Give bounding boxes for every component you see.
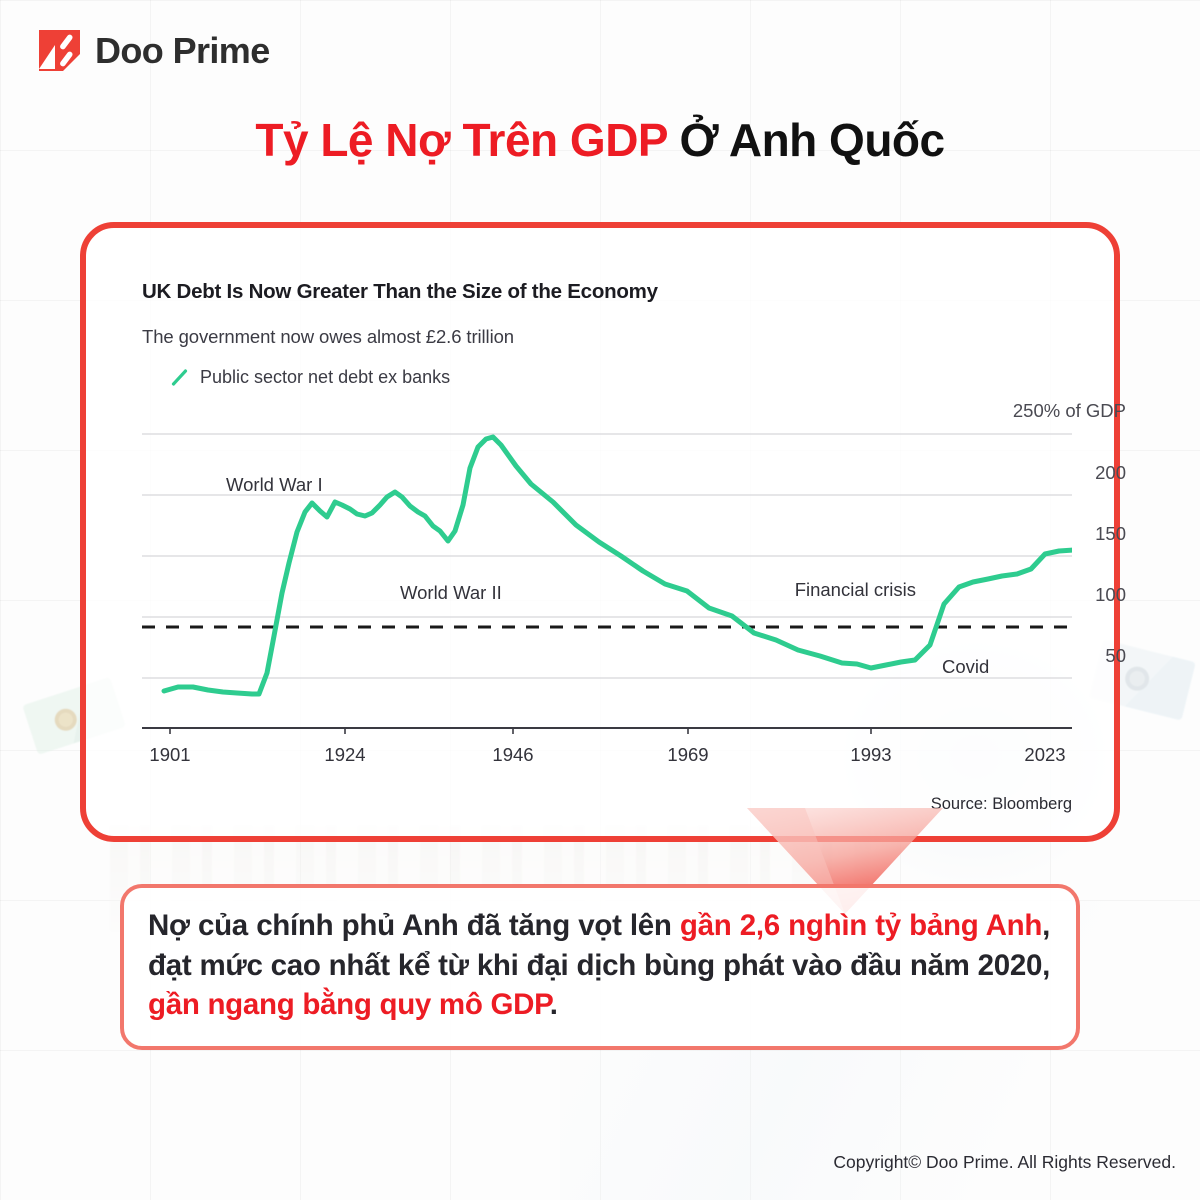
y-tick-label-150: 150 bbox=[946, 523, 1126, 545]
chart-card: UK Debt Is Now Greater Than the Size of … bbox=[80, 222, 1120, 842]
brand-name: Doo Prime bbox=[95, 30, 270, 72]
copyright-footer: Copyright© Doo Prime. All Rights Reserve… bbox=[833, 1152, 1176, 1173]
legend-label: Public sector net debt ex banks bbox=[200, 367, 450, 388]
caption-box: Nợ của chính phủ Anh đã tăng vọt lên gần… bbox=[120, 884, 1080, 1050]
annotation-covid: Covid bbox=[942, 656, 989, 678]
caption-highlight-1: gần 2,6 nghìn tỷ bảng Anh bbox=[680, 909, 1042, 942]
annotation-world-war-2: World War II bbox=[400, 582, 502, 604]
x-tick-label-1969: 1969 bbox=[660, 744, 716, 766]
legend-slash-icon bbox=[170, 368, 189, 387]
y-tick-label-100: 100 bbox=[946, 584, 1126, 606]
caption-highlight-2: gần ngang bằng quy mô GDP bbox=[148, 988, 550, 1021]
x-tick-label-1924: 1924 bbox=[317, 744, 373, 766]
chart-legend: Public sector net debt ex banks bbox=[142, 367, 1068, 388]
page-title: Tỷ Lệ Nợ Trên GDP Ở Anh Quốc bbox=[0, 115, 1200, 167]
caption-part-3: . bbox=[550, 988, 558, 1021]
x-tick-label-2023: 2023 bbox=[1017, 744, 1073, 766]
page-title-red: Tỷ Lệ Nợ Trên GDP bbox=[255, 114, 667, 166]
caption-text: Nợ của chính phủ Anh đã tăng vọt lên gần… bbox=[148, 906, 1050, 1025]
y-tick-label-200: 200 bbox=[946, 462, 1126, 484]
x-tick-label-1993: 1993 bbox=[843, 744, 899, 766]
page-title-black: Ở Anh Quốc bbox=[680, 114, 945, 166]
chart-title: UK Debt Is Now Greater Than the Size of … bbox=[142, 280, 1068, 304]
doo-prime-logo-icon bbox=[37, 28, 82, 73]
chart-source: Source: Bloomberg bbox=[931, 795, 1072, 814]
x-tick-label-1946: 1946 bbox=[485, 744, 541, 766]
caption-part-1: Nợ của chính phủ Anh đã tăng vọt lên bbox=[148, 909, 680, 942]
brand-logo: Doo Prime bbox=[37, 28, 270, 73]
y-tick-label-250: 250% of GDP bbox=[946, 400, 1126, 422]
chart-subtitle: The government now owes almost £2.6 tril… bbox=[142, 326, 1068, 348]
chart-plot-area: 250% of GDP 200 150 100 50 World War I W… bbox=[142, 424, 1072, 734]
x-tick-label-1901: 1901 bbox=[142, 744, 198, 766]
annotation-world-war-1: World War I bbox=[226, 474, 323, 496]
annotation-financial-crisis: Financial crisis bbox=[756, 579, 916, 600]
